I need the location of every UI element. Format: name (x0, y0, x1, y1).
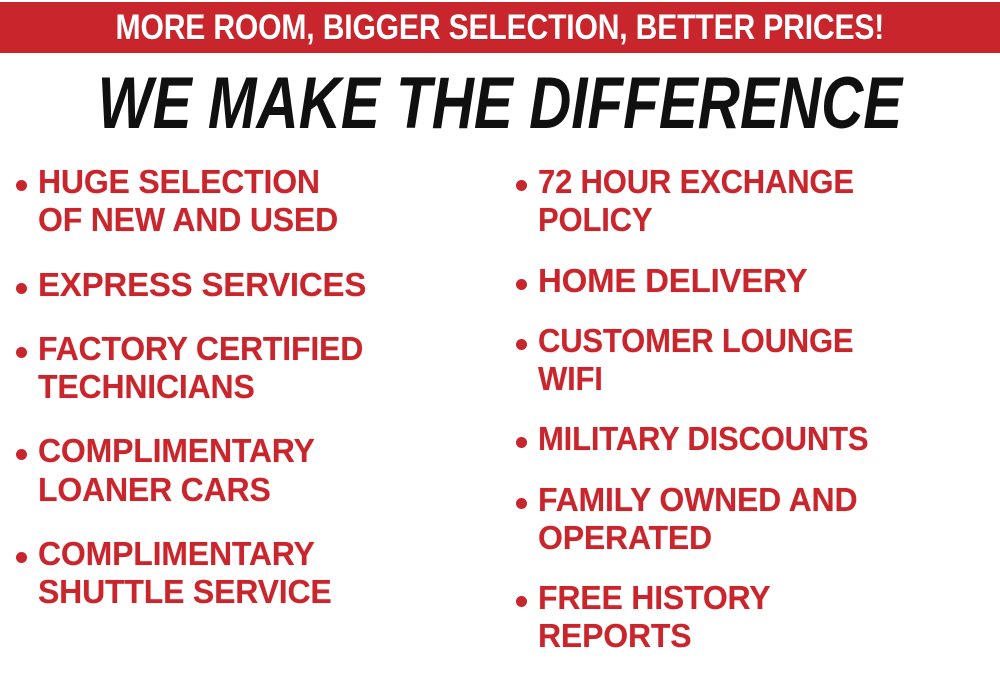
list-item: 72 HOUR EXCHANGE POLICY (516, 163, 1000, 240)
list-item-label: HUGE SELECTION OF NEW AND USED (38, 163, 338, 240)
top-banner-text: MORE ROOM, BIGGER SELECTION, BETTER PRIC… (116, 10, 885, 45)
list-item-label: MILITARY DISCOUNTS (538, 420, 868, 458)
bullet-dot-icon (16, 283, 27, 294)
promo-poster: MORE ROOM, BIGGER SELECTION, BETTER PRIC… (0, 0, 1000, 694)
bullet-dot-icon (16, 347, 27, 358)
bullet-dot-icon (516, 279, 527, 290)
bullet-dot-icon (516, 437, 527, 448)
list-item: MILITARY DISCOUNTS (516, 420, 1000, 458)
list-item: COMPLIMENTARY LOANER CARS (16, 432, 500, 509)
list-item-label: HOME DELIVERY (538, 262, 807, 300)
list-item-label: COMPLIMENTARY SHUTTLE SERVICE (38, 535, 332, 612)
bullet-dot-icon (516, 498, 527, 509)
list-item: CUSTOMER LOUNGE WIFI (516, 322, 1000, 399)
list-item: HUGE SELECTION OF NEW AND USED (16, 163, 500, 240)
bullet-dot-icon (516, 596, 527, 607)
bullet-dot-icon (516, 339, 527, 350)
bullet-dot-icon (516, 180, 527, 191)
list-item-label: FREE HISTORY REPORTS (538, 579, 770, 656)
bullet-dot-icon (16, 180, 27, 191)
list-item-label: FACTORY CERTIFIED TECHNICIANS (38, 330, 363, 407)
list-item: FAMILY OWNED AND OPERATED (516, 481, 1000, 558)
benefits-columns: HUGE SELECTION OF NEW AND USED EXPRESS S… (0, 155, 1000, 694)
list-item: HOME DELIVERY (516, 262, 1000, 300)
benefits-column-right: 72 HOUR EXCHANGE POLICY HOME DELIVERY CU… (500, 155, 1000, 694)
list-item: COMPLIMENTARY SHUTTLE SERVICE (16, 535, 500, 612)
list-item-label: EXPRESS SERVICES (38, 266, 366, 304)
list-item-label: FAMILY OWNED AND OPERATED (538, 481, 857, 558)
list-item-label: CUSTOMER LOUNGE WIFI (538, 322, 853, 399)
list-item: FACTORY CERTIFIED TECHNICIANS (16, 330, 500, 407)
bullet-dot-icon (16, 552, 27, 563)
headline-container: WE MAKE THE DIFFERENCE (0, 66, 1000, 140)
list-item: EXPRESS SERVICES (16, 266, 500, 304)
list-item-label: COMPLIMENTARY LOANER CARS (38, 432, 315, 509)
top-banner: MORE ROOM, BIGGER SELECTION, BETTER PRIC… (0, 2, 1000, 53)
page-title: WE MAKE THE DIFFERENCE (98, 67, 903, 140)
benefits-column-left: HUGE SELECTION OF NEW AND USED EXPRESS S… (0, 155, 500, 694)
bullet-dot-icon (16, 449, 27, 460)
list-item-label: 72 HOUR EXCHANGE POLICY (538, 163, 854, 240)
list-item: FREE HISTORY REPORTS (516, 579, 1000, 656)
